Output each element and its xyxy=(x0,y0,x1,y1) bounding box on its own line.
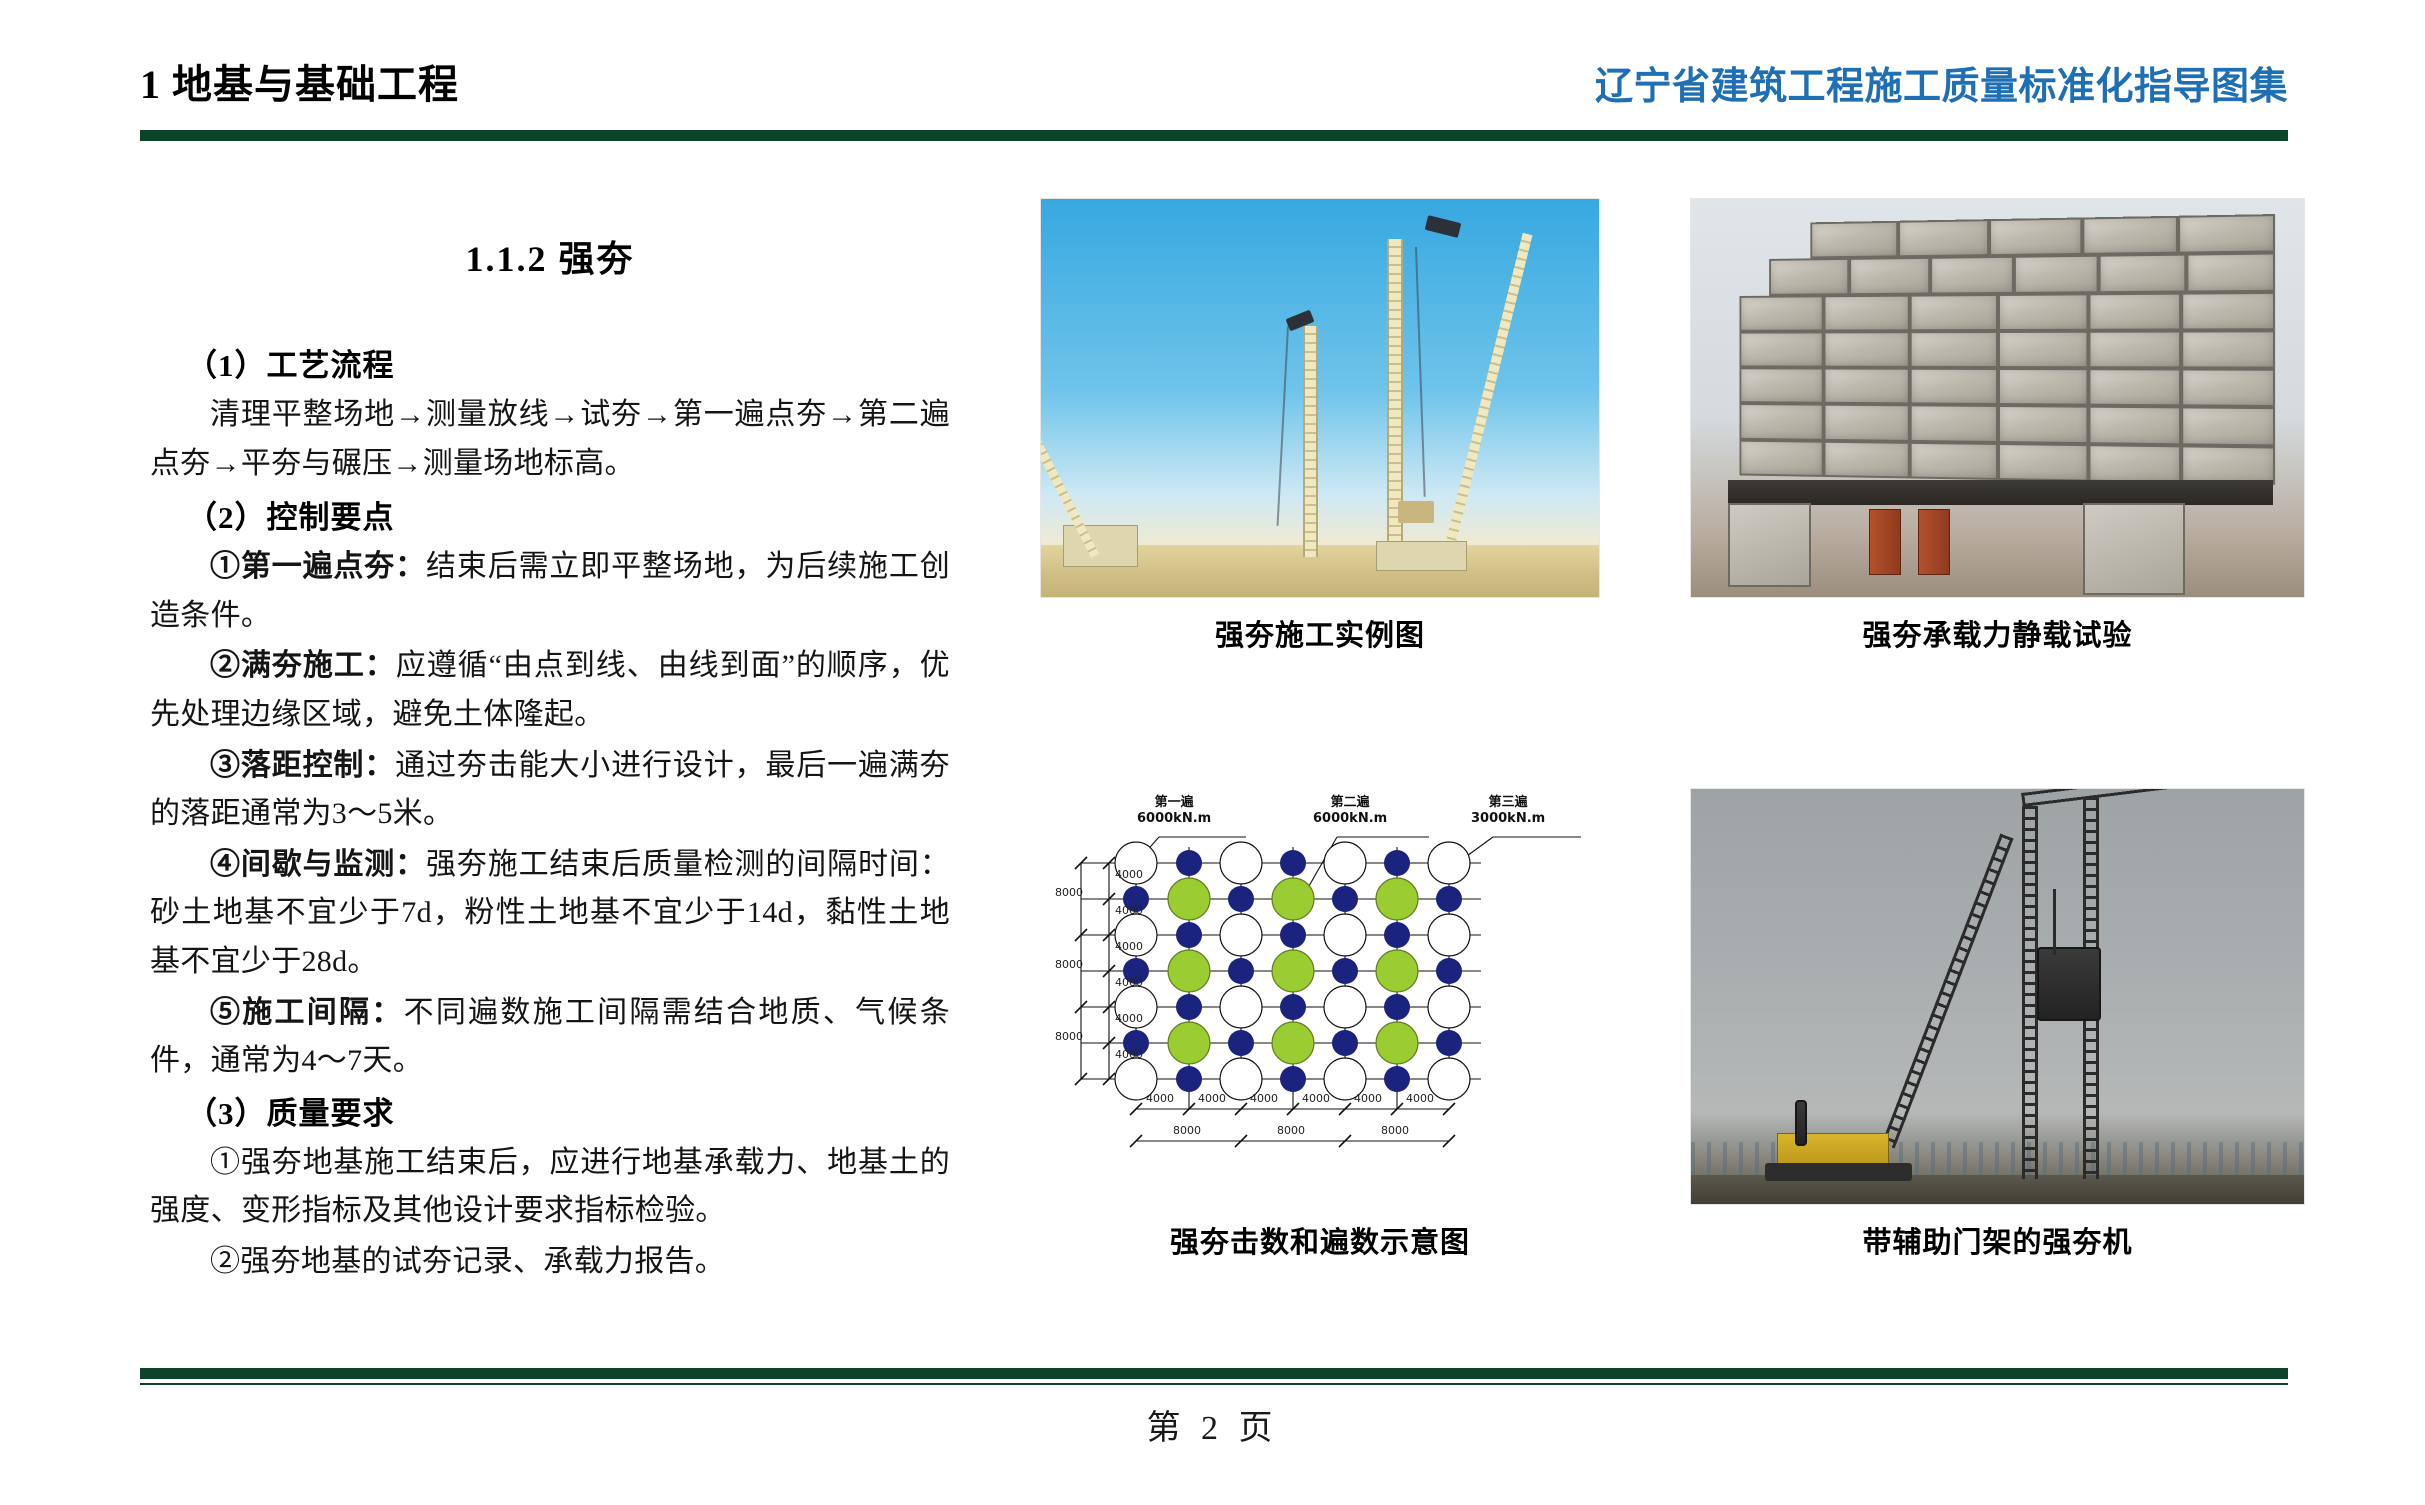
dim-value: 4000 xyxy=(1198,1092,1226,1105)
concrete-block xyxy=(1769,258,1849,295)
concrete-block xyxy=(1909,331,1997,368)
concrete-block xyxy=(2088,330,2181,368)
control-point-3-lead: ③落距控制： xyxy=(210,749,395,782)
figure-4-caption: 带辅助门架的强夯机 xyxy=(1690,1219,2305,1261)
page-header: 1 地基与基础工程 辽宁省建筑工程施工质量标准化指导图集 xyxy=(140,34,2288,110)
concrete-block xyxy=(1909,442,1997,480)
figure-1-caption: 强夯施工实例图 xyxy=(1040,612,1600,654)
concrete-block xyxy=(1739,367,1823,404)
heading-process-flow: （1）工艺流程 xyxy=(150,340,950,385)
concrete-block xyxy=(2177,214,2275,254)
heading-quality-requirements: （3）质量要求 xyxy=(150,1088,950,1133)
section-title: 1.1.2 强夯 xyxy=(150,230,950,282)
tamping-hammer xyxy=(2037,947,2101,1021)
concrete-block xyxy=(1823,331,1909,368)
concrete-block xyxy=(1739,403,1823,440)
concrete-block xyxy=(2088,406,2181,445)
concrete-block xyxy=(1898,219,1989,257)
vertical-dim-4000-1: 4000 xyxy=(1115,869,1141,881)
control-point-1-lead: ①第一遍点夯： xyxy=(210,550,426,583)
tamper-weight xyxy=(1398,501,1434,523)
dim-value: 4000 xyxy=(1354,1092,1382,1105)
steel-reaction-beam xyxy=(1728,480,2274,506)
crane-a-frame xyxy=(1795,1100,1807,1146)
concrete-block xyxy=(2014,255,2099,293)
vertical-dim-4000-5: 4000 xyxy=(1115,1013,1141,1025)
horizontal-dim-4000-2: 4000 xyxy=(1198,1092,1226,1105)
vertical-dim-4000-2: 4000 xyxy=(1115,905,1141,917)
control-point-5-lead: ⑤施工间隔： xyxy=(210,996,404,1029)
right-crane-base xyxy=(1376,541,1467,571)
concrete-block-stack-photo xyxy=(1691,199,2304,597)
concrete-block xyxy=(2186,253,2275,292)
dim-value: 4000 xyxy=(1115,976,1143,989)
figure-blow-count-diagram: 第一遍 6000kN.m 第二遍 6000kN.m 第三遍 3000kN.m xyxy=(1040,788,1600,1261)
vertical-dim-4000-3: 4000 xyxy=(1115,941,1141,953)
hydraulic-jack-2 xyxy=(1918,509,1951,575)
crane-lattice-boom xyxy=(1881,833,2013,1148)
control-point-2: ②满夯施工：应遵循“由点到线、由线到面”的顺序，优先处理边缘区域，避免土体隆起。 xyxy=(150,642,950,739)
figure-construction-example: 强夯施工实例图 xyxy=(1040,198,1600,654)
figure-3-caption: 强夯击数和遍数示意图 xyxy=(1040,1219,1600,1261)
dim-value: 8000 xyxy=(1055,1030,1083,1043)
concrete-block xyxy=(2088,444,2181,483)
dim-value: 4000 xyxy=(1406,1092,1434,1105)
horizontal-dim-8000-3: 8000 xyxy=(1381,1124,1409,1137)
dim-value: 4000 xyxy=(1302,1092,1330,1105)
crane-crawler-track xyxy=(1765,1163,1912,1182)
concrete-block xyxy=(1739,439,1823,476)
block-row xyxy=(1769,253,2275,296)
block-row xyxy=(1739,330,2275,369)
dim-value: 4000 xyxy=(1115,940,1143,953)
concrete-block xyxy=(1909,368,1997,406)
heading-control-points: （2）控制要点 xyxy=(150,492,950,537)
concrete-block xyxy=(1739,331,1823,367)
horizontal-dim-4000-6: 4000 xyxy=(1406,1092,1434,1105)
left-crane-mast xyxy=(1303,326,1318,557)
hammer-hoist-line xyxy=(2053,889,2056,955)
concrete-block xyxy=(1997,293,2087,331)
concrete-block xyxy=(2088,368,2181,406)
vertical-dim-8000-2: 8000 xyxy=(1055,959,1081,971)
header-divider-rule xyxy=(140,130,2288,141)
quality-item-2: ②强夯地基的试夯记录、承载力报告。 xyxy=(150,1238,950,1287)
vertical-dim-4000-6: 4000 xyxy=(1115,1049,1141,1061)
concrete-block xyxy=(1823,368,1909,405)
header-chapter-title: 1 地基与基础工程 xyxy=(140,52,459,110)
block-row xyxy=(1739,291,2275,331)
figure-2-caption: 强夯承载力静载试验 xyxy=(1690,612,2305,654)
concrete-block xyxy=(1930,256,2013,294)
concrete-block xyxy=(1997,405,2087,443)
concrete-block xyxy=(2088,292,2181,330)
dim-value: 4000 xyxy=(1146,1092,1174,1105)
concrete-block xyxy=(1823,294,1909,331)
concrete-block xyxy=(1989,217,2082,256)
horizontal-dim-8000-1: 8000 xyxy=(1173,1124,1201,1137)
dim-value: 4000 xyxy=(1115,1048,1143,1061)
concrete-block xyxy=(1739,295,1823,332)
photo-construction-example xyxy=(1040,198,1600,598)
control-point-2-lead: ②满夯施工： xyxy=(210,649,396,682)
hydraulic-jack-1 xyxy=(1869,509,1902,575)
support-pier-left xyxy=(1728,503,1812,587)
gantry-head xyxy=(2021,788,2187,807)
control-point-3: ③落距控制：通过夯击能大小进行设计，最后一遍满夯的落距通常为3～5米。 xyxy=(150,742,950,839)
concrete-block xyxy=(1909,293,1997,331)
photo-static-load-test xyxy=(1690,198,2305,598)
concrete-block xyxy=(1849,257,1930,295)
diagram-blow-count: 第一遍 6000kN.m 第二遍 6000kN.m 第三遍 3000kN.m xyxy=(1040,788,1600,1205)
horizontal-dim-8000-2: 8000 xyxy=(1277,1124,1305,1137)
concrete-block xyxy=(1997,331,2087,369)
concrete-block xyxy=(1823,440,1909,478)
concrete-block xyxy=(2099,254,2186,293)
horizontal-dim-4000-1: 4000 xyxy=(1146,1092,1174,1105)
vertical-dim-8000-1: 8000 xyxy=(1055,887,1081,899)
text-column: 1.1.2 强夯 （1）工艺流程 清理平整场地→测量放线→试夯→第一遍点夯→第二… xyxy=(150,230,950,1289)
gantry-crane-photo xyxy=(1691,789,2304,1204)
footer-divider-thin-rule xyxy=(140,1383,2288,1385)
vertical-dim-8000-3: 8000 xyxy=(1055,1031,1081,1043)
dim-value: 4000 xyxy=(1115,868,1143,881)
gantry-leg-left xyxy=(2022,806,2038,1180)
dim-value: 4000 xyxy=(1115,904,1143,917)
concrete-block xyxy=(2180,291,2275,330)
crane-site-photo xyxy=(1041,199,1599,597)
horizontal-dim-4000-4: 4000 xyxy=(1302,1092,1330,1105)
tamping-grid-svg xyxy=(1041,789,1600,1204)
concrete-block xyxy=(2082,216,2177,255)
block-row xyxy=(1739,439,2275,484)
block-row xyxy=(1739,367,2275,407)
page-number: 第 2 页 xyxy=(0,1400,2425,1449)
vertical-dim-4000-4: 4000 xyxy=(1115,977,1141,989)
concrete-block xyxy=(1997,368,2087,406)
concrete-block xyxy=(1997,443,2087,482)
dim-value: 8000 xyxy=(1277,1124,1305,1137)
figure-grid: 强夯施工实例图 xyxy=(1040,198,2305,1348)
horizontal-dim-4000-3: 4000 xyxy=(1250,1092,1278,1105)
dim-value: 4000 xyxy=(1250,1092,1278,1105)
concrete-block xyxy=(2180,407,2275,446)
process-flow-paragraph: 清理平整场地→测量放线→试夯→第一遍点夯→第二遍点夯→平夯与碾压→测量场地标高。 xyxy=(150,391,950,488)
support-pier-right xyxy=(2083,503,2185,595)
figure-static-load-test: 强夯承载力静载试验 xyxy=(1690,198,2305,654)
concrete-block xyxy=(1810,221,1899,259)
concrete-block-stack xyxy=(1739,214,2275,487)
photo-tamper-with-gantry xyxy=(1690,788,2305,1205)
quality-item-1: ①强夯地基施工结束后，应进行地基承载力、地基土的强度、变形指标及其他设计要求指标… xyxy=(150,1139,950,1236)
block-row xyxy=(1810,214,2276,259)
control-point-1: ①第一遍点夯：结束后需立即平整场地，为后续施工创造条件。 xyxy=(150,543,950,640)
control-point-5: ⑤施工间隔：不同遍数施工间隔需结合地质、气候条件，通常为4～7天。 xyxy=(150,989,950,1086)
dim-value: 8000 xyxy=(1055,958,1083,971)
control-point-4: ④间歇与监测：强夯施工结束后质量检测的间隔时间：砂土地基不宜少于7d，粉性土地基… xyxy=(150,841,950,987)
left-crane-cab xyxy=(1063,525,1138,567)
figure-tamper-with-gantry: 带辅助门架的强夯机 xyxy=(1690,788,2305,1261)
dim-value: 4000 xyxy=(1115,1012,1143,1025)
concrete-block xyxy=(2180,330,2275,369)
concrete-block xyxy=(2180,369,2275,408)
header-book-title: 辽宁省建筑工程施工质量标准化指导图集 xyxy=(1595,55,2288,110)
horizontal-dim-4000-5: 4000 xyxy=(1354,1092,1382,1105)
control-point-4-lead: ④间歇与监测： xyxy=(210,848,426,881)
tamping-point-layout: 第一遍 6000kN.m 第二遍 6000kN.m 第三遍 3000kN.m xyxy=(1041,789,1599,1204)
dim-value: 8000 xyxy=(1055,886,1083,899)
dim-value: 8000 xyxy=(1381,1124,1409,1137)
concrete-block xyxy=(1823,404,1909,441)
footer-divider-rule xyxy=(140,1368,2288,1379)
concrete-block xyxy=(1909,405,1997,443)
sky-background xyxy=(1041,199,1599,549)
dim-value: 8000 xyxy=(1173,1124,1201,1137)
